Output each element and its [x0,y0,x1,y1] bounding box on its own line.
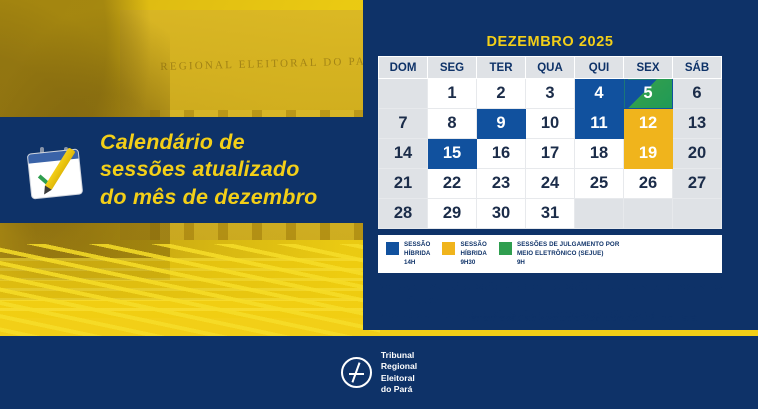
legend-swatch-hybrid-930 [442,242,455,255]
calendar-empty-cell [624,199,673,229]
weekday-header: QUI [575,57,624,79]
legend-time: 9H30 [460,259,486,266]
legend-label: SESSÕES DE JULGAMENTO POR MEIO ELETRÔNIC… [517,241,619,259]
calendar-day-cell[interactable]: 29 [428,199,477,229]
calendar-day-cell[interactable]: 19 [624,139,673,169]
calendar-empty-cell [575,199,624,229]
calendar-week-row: 78910111213 [379,109,722,139]
calendar-day-cell[interactable]: 30 [477,199,526,229]
legend-item: SESSÃO HÍBRIDA 14H [386,241,430,266]
calendar-day-cell[interactable]: 23 [477,169,526,199]
calendar-month-title: DEZEMBRO 2025 [378,28,722,56]
legend-swatch-sejue [499,242,512,255]
calendar-empty-cell [379,79,428,109]
calendar-day-cell[interactable]: 10 [526,109,575,139]
calendar-day-cell[interactable]: 9 [477,109,526,139]
legend-label: SESSÃO HÍBRIDA [460,241,486,259]
legend-label: SESSÃO HÍBRIDA [404,241,430,259]
calendar-day-cell[interactable]: 15 [428,139,477,169]
legend-time: 9H [517,259,619,266]
calendar-day-cell[interactable]: 5 [624,79,673,109]
legend-swatch-hybrid-14h [386,242,399,255]
weekday-header: SEG [428,57,477,79]
calendar-day-cell[interactable]: 13 [673,109,722,139]
calendar-day-cell[interactable]: 22 [428,169,477,199]
calendar-day-cell[interactable]: 12 [624,109,673,139]
calendar-table: DOM SEG TER QUA QUI SEX SÁB 123456789101… [378,56,722,229]
broadcast-text: Transmissão ao vivo pelo YouTube do TRE … [430,313,730,324]
calendar-card: DEZEMBRO 2025 DOM SEG TER QUA QUI SEX SÁ… [378,28,722,273]
legend-time: 14H [404,259,430,266]
calendar-check-icon [26,144,88,200]
legend-item: SESSÃO HÍBRIDA 9H30 [442,241,486,266]
calendar-week-row: 14151617181920 [379,139,722,169]
calendar-day-cell[interactable]: 6 [673,79,722,109]
calendar-day-cell[interactable]: 16 [477,139,526,169]
calendar-day-cell[interactable]: 17 [526,139,575,169]
calendar-week-row: 123456 [379,79,722,109]
calendar-day-cell[interactable]: 4 [575,79,624,109]
calendar-day-cell[interactable]: 28 [379,199,428,229]
tre-logo: Tribunal Regional Eleitoral do Pará [341,350,417,395]
calendar-day-cell[interactable]: 31 [526,199,575,229]
poster-root: REGIONAL ELEITORAL DO PARÁ Calendário de… [0,0,758,409]
calendar-day-cell[interactable]: 11 [575,109,624,139]
weekday-header: DOM [379,57,428,79]
weekday-header: SEX [624,57,673,79]
logo-text: Tribunal Regional Eleitoral do Pará [381,350,417,395]
page-title: Calendário de sessões atualizado do mês … [100,129,317,212]
weekday-header: QUA [526,57,575,79]
calendar-week-row: 28293031 [379,199,722,229]
calendar-day-cell[interactable]: 1 [428,79,477,109]
calendar-day-cell[interactable]: 3 [526,79,575,109]
calendar-week-row: 21222324252627 [379,169,722,199]
calendar-empty-cell [673,199,722,229]
scales-logo-icon [341,357,372,388]
footer: Tribunal Regional Eleitoral do Pará [0,336,758,409]
weekday-header: TER [477,57,526,79]
legend-item: SESSÕES DE JULGAMENTO POR MEIO ELETRÔNIC… [499,241,619,266]
calendar-day-cell[interactable]: 24 [526,169,575,199]
calendar-day-cell[interactable]: 8 [428,109,477,139]
calendar-header-row: DOM SEG TER QUA QUI SEX SÁB [379,57,722,79]
calendar-day-cell[interactable]: 18 [575,139,624,169]
calendar-day-cell[interactable]: 26 [624,169,673,199]
calendar-day-cell[interactable]: 7 [379,109,428,139]
calendar-day-cell[interactable]: 27 [673,169,722,199]
calendar-day-cell[interactable]: 25 [575,169,624,199]
calendar-legend: SESSÃO HÍBRIDA 14H SESSÃO HÍBRIDA 9H30 S… [378,235,722,273]
calendar-day-cell[interactable]: 14 [379,139,428,169]
calendar-day-cell[interactable]: 2 [477,79,526,109]
weekday-header: SÁB [673,57,722,79]
calendar-day-cell[interactable]: 21 [379,169,428,199]
calendar-day-cell[interactable]: 20 [673,139,722,169]
